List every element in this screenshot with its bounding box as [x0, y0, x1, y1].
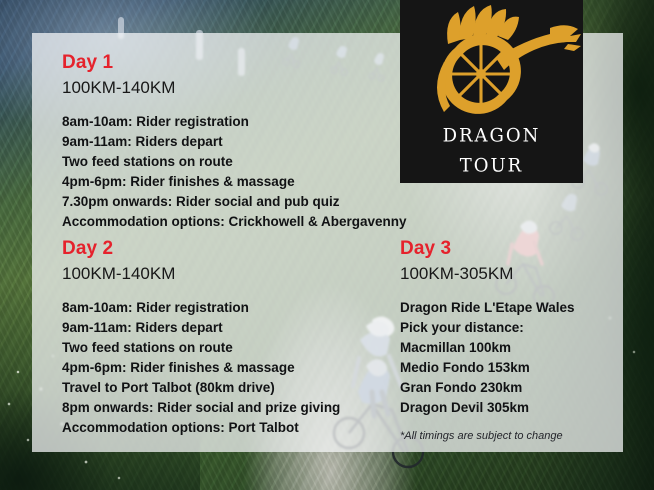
schedule-item: Accommodation options: Crickhowell & Abe… [62, 212, 407, 232]
schedule-item: Two feed stations on route [62, 338, 340, 358]
schedule-item: 9am-11am: Riders depart [62, 318, 340, 338]
schedule-item: 7.30pm onwards: Rider social and pub qui… [62, 192, 407, 212]
schedule-item: Two feed stations on route [62, 152, 407, 172]
dragon-bicycle-wheel-icon [400, 0, 583, 120]
day-3-title: Day 3 [400, 238, 575, 260]
schedule-item: Pick your distance: [400, 318, 575, 338]
dragon-tour-logo: Dragon Tour [400, 0, 583, 183]
logo-word-tour: Tour [400, 147, 583, 177]
schedule-item: 4pm-6pm: Rider finishes & massage [62, 358, 340, 378]
day-2-distance: 100KM-140KM [62, 262, 340, 286]
schedule-item: Medio Fondo 153km [400, 358, 575, 378]
timings-footnote: *All timings are subject to change [400, 430, 575, 442]
schedule-item: Travel to Port Talbot (80km drive) [62, 378, 340, 398]
schedule-item: Gran Fondo 230km [400, 378, 575, 398]
schedule-item: Dragon Devil 305km [400, 398, 575, 418]
day-3-schedule: Dragon Ride L'Etape Wales Pick your dist… [400, 298, 575, 418]
schedule-item: 4pm-6pm: Rider finishes & massage [62, 172, 407, 192]
day-1-schedule: 8am-10am: Rider registration 9am-11am: R… [62, 112, 407, 232]
schedule-item: Macmillan 100km [400, 338, 575, 358]
schedule-item: Dragon Ride L'Etape Wales [400, 298, 575, 318]
day-1-column: Day 1 100KM-140KM 8am-10am: Rider regist… [62, 52, 407, 232]
day-1-title: Day 1 [62, 52, 407, 74]
day-3-distance: 100KM-305KM [400, 262, 575, 286]
day-2-schedule: 8am-10am: Rider registration 9am-11am: R… [62, 298, 340, 438]
poster: Day 1 100KM-140KM 8am-10am: Rider regist… [0, 0, 654, 490]
schedule-item: 8am-10am: Rider registration [62, 298, 340, 318]
schedule-item: 8pm onwards: Rider social and prize givi… [62, 398, 340, 418]
day-2-column: Day 2 100KM-140KM 8am-10am: Rider regist… [62, 238, 340, 438]
logo-word-dragon: Dragon [400, 117, 583, 147]
schedule-item: 8am-10am: Rider registration [62, 112, 407, 132]
schedule-item: 9am-11am: Riders depart [62, 132, 407, 152]
day-2-title: Day 2 [62, 238, 340, 260]
day-3-column: Day 3 100KM-305KM Dragon Ride L'Etape Wa… [400, 238, 575, 442]
day-1-distance: 100KM-140KM [62, 76, 407, 100]
schedule-item: Accommodation options: Port Talbot [62, 418, 340, 438]
